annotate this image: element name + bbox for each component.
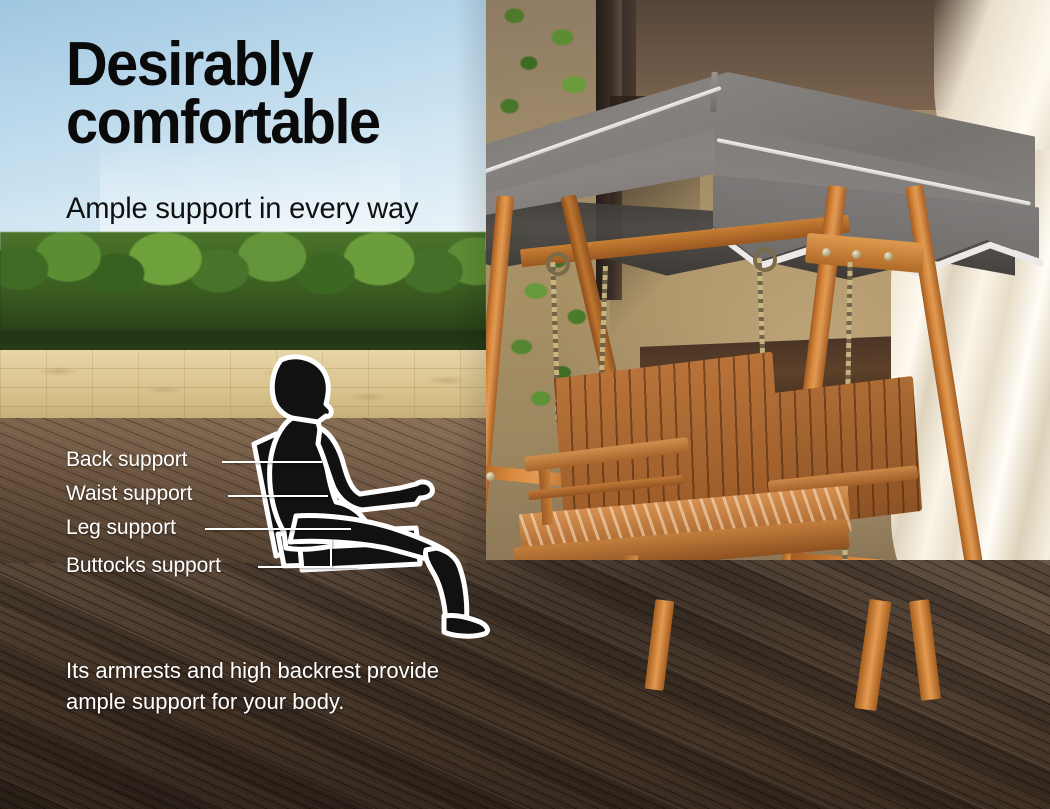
silhouette-svg [240,352,510,642]
leader-line-leg-support [205,528,351,530]
leader-line-buttocks-riser [330,540,332,568]
callout-back-support: Back support [66,448,187,472]
seated-person-silhouette [240,352,510,642]
bolt-icon [852,250,861,259]
subheadline: Ample support in every way [66,192,418,226]
headline: Desirably comfortable [66,36,661,153]
callout-waist-support: Waist support [66,482,192,506]
callout-buttocks-support: Buttocks support [66,554,221,578]
bolt-icon [822,248,831,257]
product-marketing-image: Desirably comfortable Ample support in e… [0,0,1050,809]
bottom-caption: Its armrests and high backrest provide a… [66,655,496,717]
leader-line-waist-support [228,495,328,497]
leader-line-back-support [222,461,322,463]
leader-line-buttocks-support [258,566,358,568]
chain-ring-icon [546,252,570,276]
chain-ring-icon [753,248,777,272]
bolt-icon [884,252,893,261]
callout-leg-support: Leg support [66,516,176,540]
